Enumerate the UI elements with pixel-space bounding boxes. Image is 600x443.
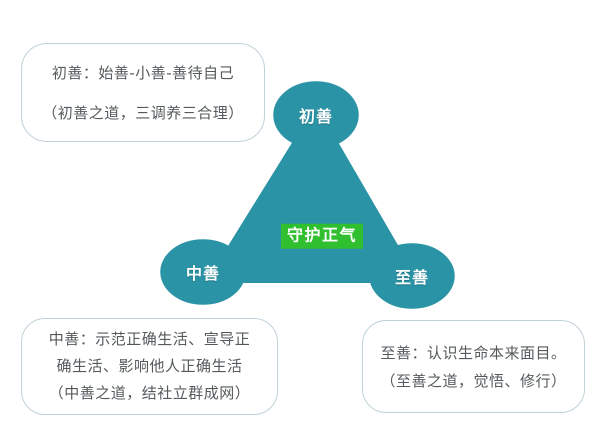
callout-line: （中善之道，结社立群成网） [49,380,251,407]
node-label-chushan: 初善 [299,103,333,127]
callout-zhishan: 至善：认识生命本来面目。 （至善之道，觉悟、修行） [362,320,585,413]
callout-line: 中善：示范正确生活、宣导正 [49,326,251,353]
node-label-zhongshan: 中善 [186,260,220,284]
callout-line: 确生活、影响他人正确生活 [56,353,242,380]
callout-line: 初善：始善-小善-善待自己 [52,53,234,93]
callout-line: （至善之道，觉悟、修行） [380,367,566,395]
callout-line: 至善：认识生命本来面目。 [380,339,566,367]
callout-line: （初善之道，三调养三合理） [42,93,244,133]
node-label-zhishan: 至善 [395,264,429,288]
center-highlight-label: 守护正气 [281,224,363,249]
diagram-canvas: 初善 中善 至善 守护正气 初善：始善-小善-善待自己 （初善之道，三调养三合理… [0,0,600,443]
callout-zhongshan: 中善：示范正确生活、宣导正 确生活、影响他人正确生活 （中善之道，结社立群成网） [21,318,278,415]
callout-chushan: 初善：始善-小善-善待自己 （初善之道，三调养三合理） [21,43,265,142]
